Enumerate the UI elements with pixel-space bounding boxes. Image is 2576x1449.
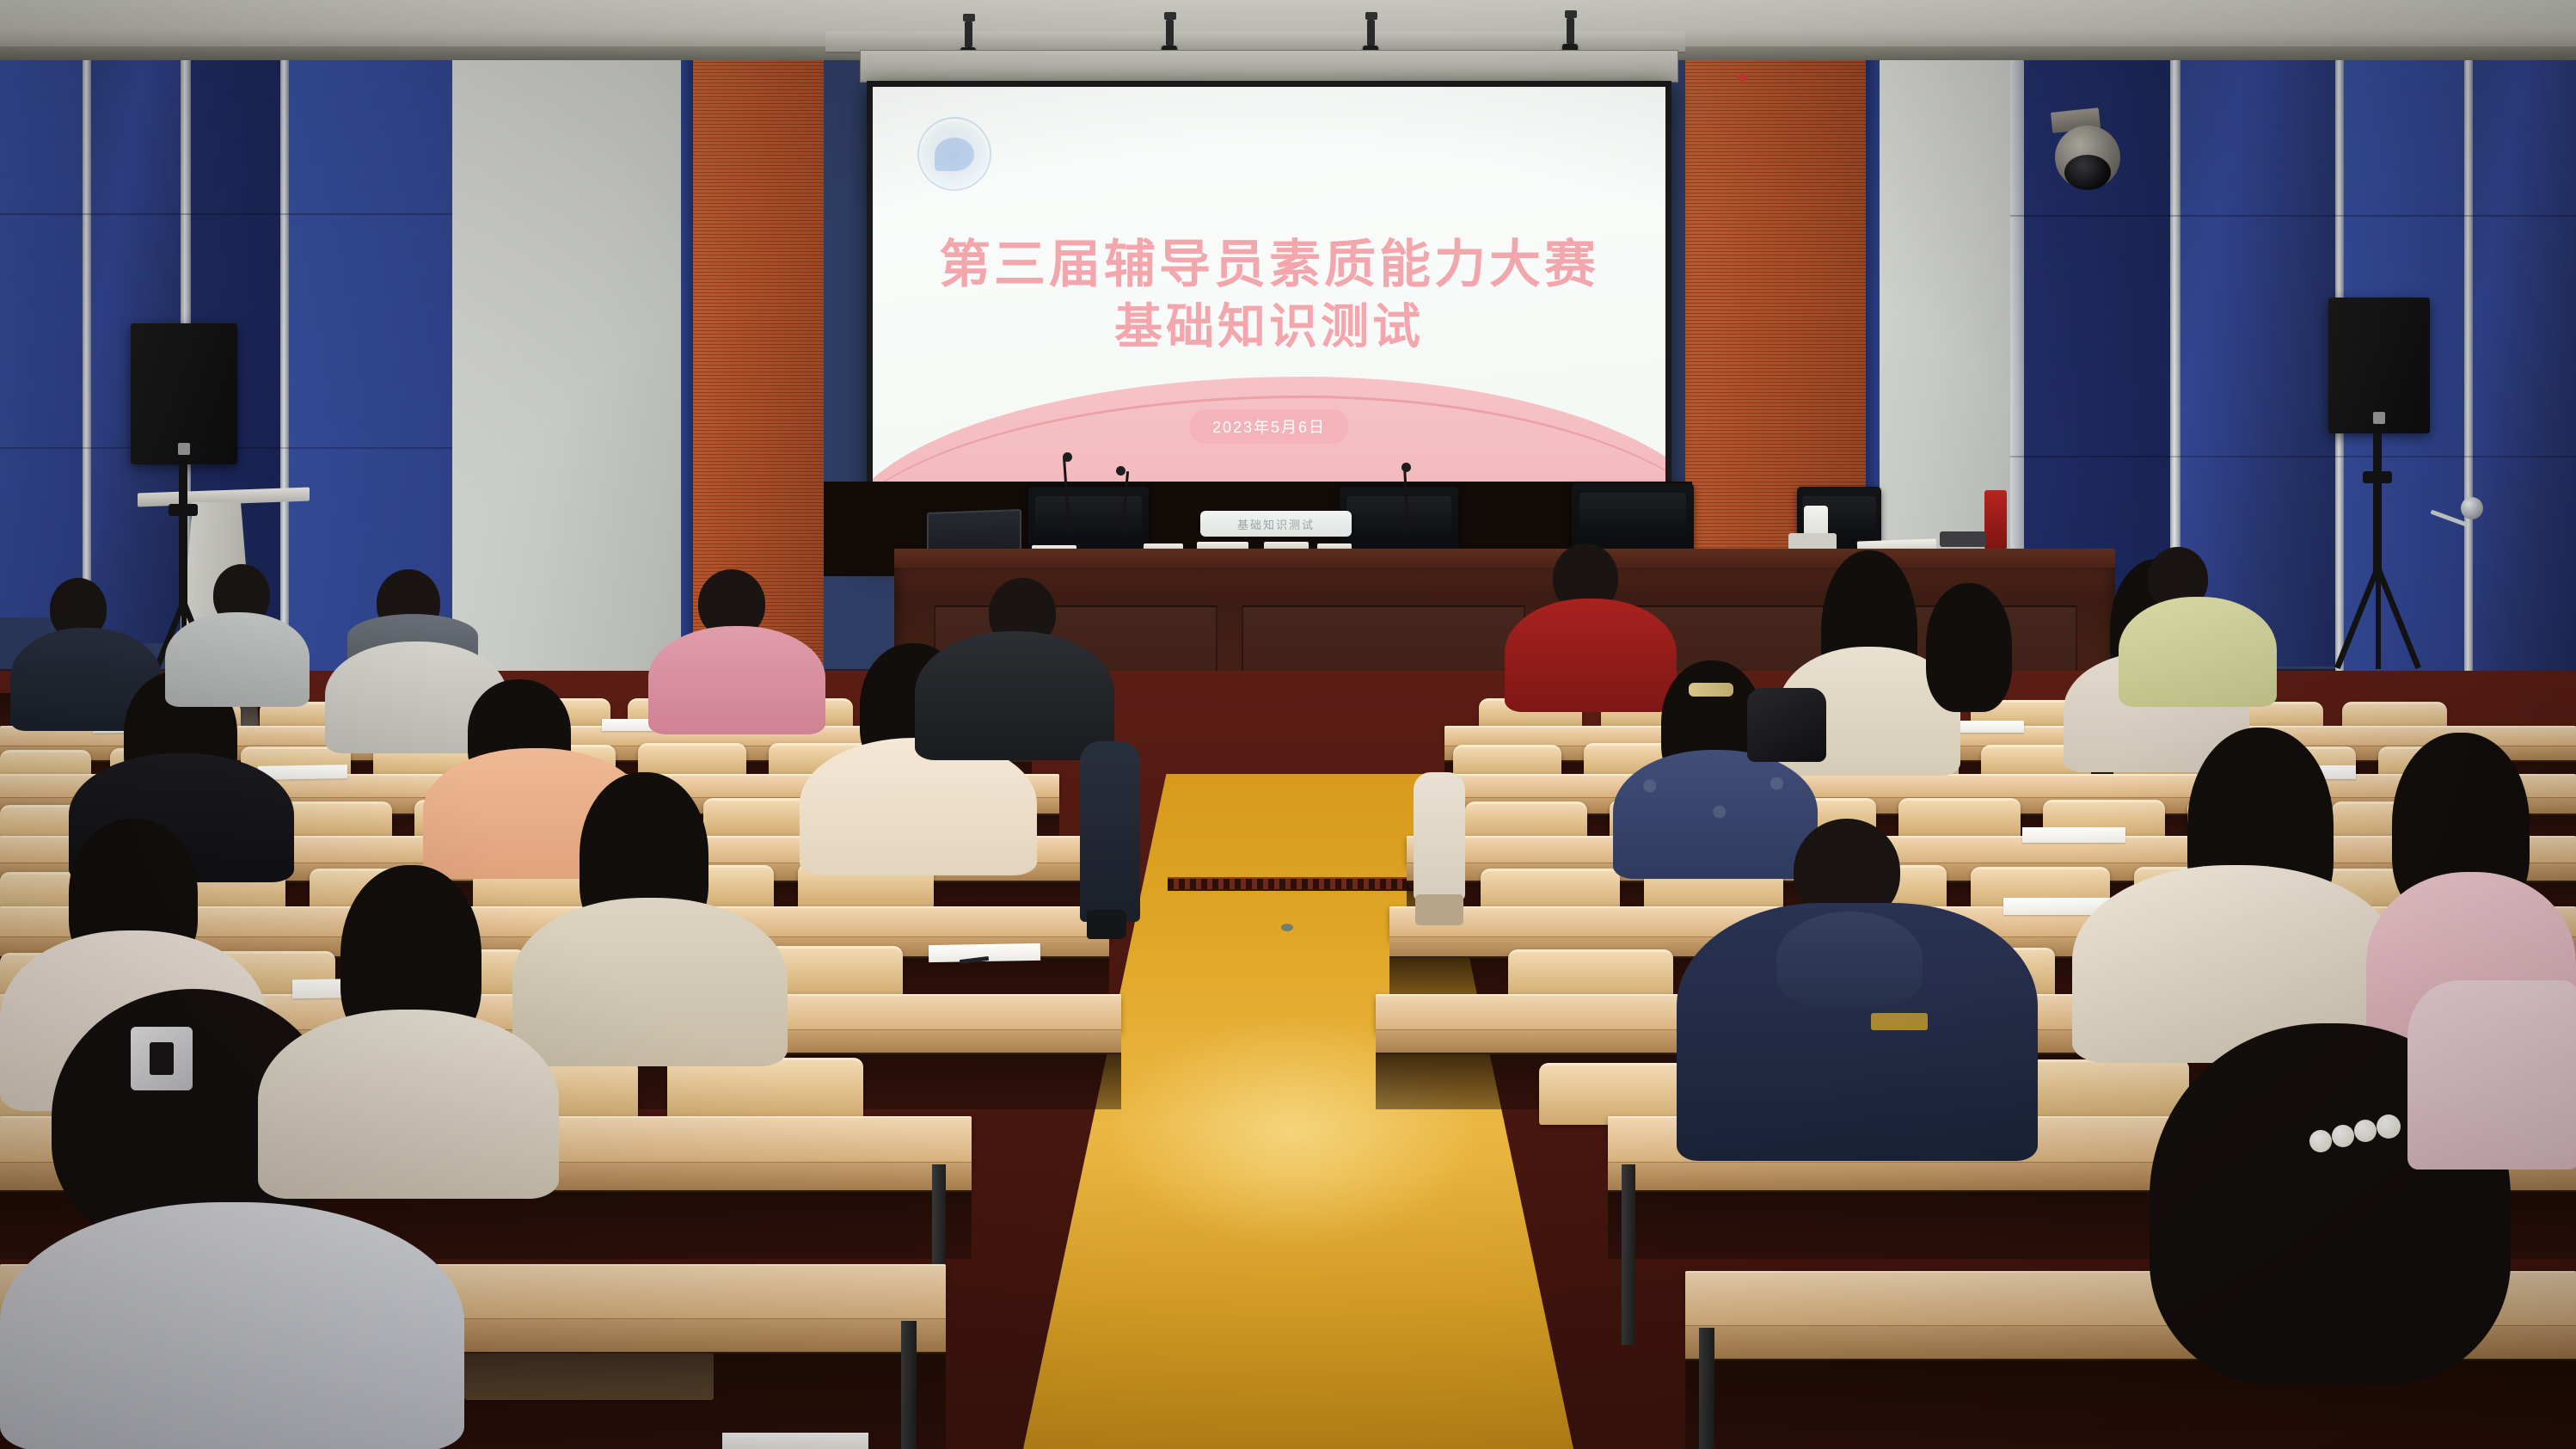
slide-subtitle: 基础知识测试 <box>873 297 1665 357</box>
desk-underside-g-right <box>1685 1359 2576 1449</box>
pearl-clip-bead-4 <box>2377 1114 2401 1139</box>
wall-panel-blue-8 <box>2473 0 2576 671</box>
wall-trim-3 <box>280 7 289 669</box>
floor-vent-grate <box>1168 877 1426 891</box>
wall-panel-blue-4 <box>289 5 452 672</box>
wall-trim-1 <box>83 50 91 617</box>
lectern-sign: 基础知识测试 <box>1200 511 1352 537</box>
pearl-clip-bead-3 <box>2354 1120 2377 1142</box>
wall-seam-left-upper <box>0 213 452 215</box>
gooseneck-mic-3-head <box>1401 463 1411 472</box>
speaker-stand-collar-right <box>2363 471 2392 483</box>
seat-back-rc4 <box>1898 798 2021 838</box>
podium-device <box>1940 531 1986 547</box>
wall-trim-4 <box>2010 0 2024 636</box>
floor-debris <box>1281 924 1293 931</box>
speaker-brand-badge-left <box>178 443 190 455</box>
wall-seam-right-lower <box>2010 456 2576 457</box>
stage-chair-2 <box>1340 487 1458 554</box>
seat-back-re1 <box>1508 949 1673 1001</box>
wall-accent-strip-left <box>681 0 693 688</box>
desk-leg-g-right <box>1699 1328 1714 1449</box>
exam-paper-g1 <box>722 1433 868 1449</box>
wall-seam-right-upper <box>2010 215 2576 217</box>
desk-leg-g-left <box>901 1321 917 1449</box>
pa-speaker-right <box>2328 298 2430 433</box>
student-backpack <box>1747 688 1826 762</box>
pearl-clip-bead-1 <box>2309 1130 2332 1152</box>
speaker-brand-badge-right <box>2373 412 2385 424</box>
speaker-tripod-leg-right-c <box>2376 568 2381 669</box>
gooseneck-mic-1-head <box>1063 452 1072 462</box>
exam-paper-ra1 <box>1952 721 2024 733</box>
gooseneck-mic-2-head <box>1116 466 1125 476</box>
slide-title: 第三届辅导员素质能力大赛 <box>873 232 1665 297</box>
exam-paper-rc1 <box>2022 827 2125 843</box>
wall-light-fixture <box>2461 497 2483 519</box>
speaker-stand-collar-left <box>169 504 198 516</box>
stage-chair-1 <box>1028 487 1149 554</box>
lectern-sign-text: 基础知识测试 <box>1237 516 1315 532</box>
pa-speaker-left <box>131 323 237 464</box>
ptz-dome-camera <box>2055 126 2120 189</box>
projection-screen-housing <box>860 50 1678 83</box>
lecture-hall-photo: 第三届辅导员素质能力大赛 基础知识测试 2023年5月6日 山东管理学院 基础知… <box>0 0 2576 1449</box>
slide-date-badge: 2023年5月6日 <box>1190 409 1348 444</box>
rail-indicator-led <box>1739 74 1746 82</box>
seat-back-rc1 <box>1465 801 1587 839</box>
wall-panel-grey-left <box>452 0 690 688</box>
pearl-clip-bead-2 <box>2332 1125 2354 1147</box>
seat-back-f4 <box>667 1058 863 1120</box>
red-thermos <box>1984 490 2007 549</box>
wall-trim-7 <box>2464 0 2473 671</box>
speaker-stand-pole-right <box>2373 433 2382 574</box>
university-emblem-icon <box>917 117 991 191</box>
desk-leg-f-right <box>1622 1164 1635 1345</box>
speaker-stand-pole-left <box>179 464 187 611</box>
wall-panel-blue-1 <box>0 50 83 617</box>
stage-chair-3 <box>1572 483 1694 552</box>
slide-heading-block: 第三届辅导员素质能力大赛 基础知识测试 <box>873 232 1665 357</box>
